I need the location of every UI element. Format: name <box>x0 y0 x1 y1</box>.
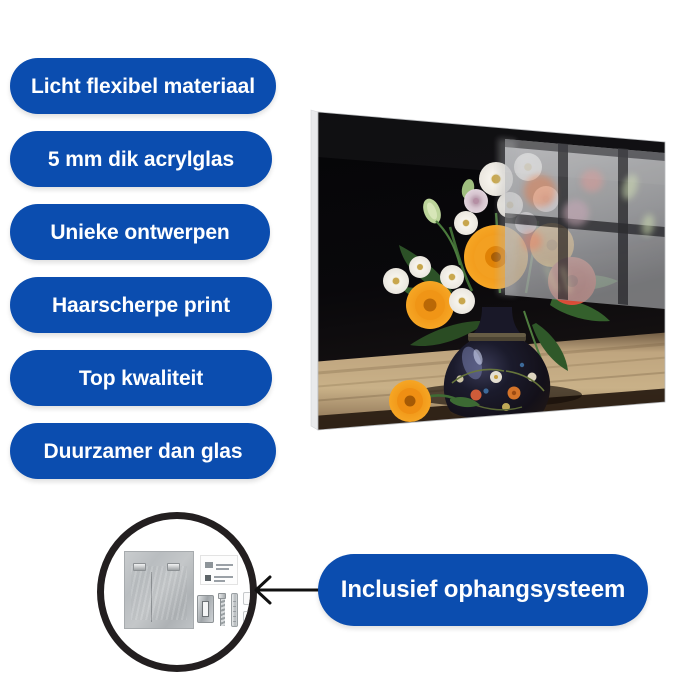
feature-pill-label: Duurzamer dan glas <box>44 441 243 462</box>
artwork-content <box>300 95 685 450</box>
feature-pill-haarscherpe-print[interactable]: Haarscherpe print <box>10 277 272 333</box>
acrylic-edge-thickness <box>311 110 318 430</box>
feature-pill-duurzamer-dan-glas[interactable]: Duurzamer dan glas <box>10 423 276 479</box>
acrylic-panel-preview <box>300 95 685 450</box>
feature-pill-label: 5 mm dik acrylglas <box>48 149 234 170</box>
feature-pill-5-mm-dik-acrylglas[interactable]: 5 mm dik acrylglas <box>10 131 272 187</box>
arrow-left-icon <box>248 572 328 608</box>
mounting-plate-slot-right <box>167 563 180 571</box>
mounting-kit-circle <box>97 512 257 672</box>
feature-pill-unieke-ontwerpen[interactable]: Unieke ontwerpen <box>10 204 270 260</box>
mounting-kit-contents <box>104 519 250 665</box>
feature-pill-top-kwaliteit[interactable]: Top kwaliteit <box>10 350 272 406</box>
feature-pill-label: Top kwaliteit <box>79 368 203 389</box>
mounting-callout-pill[interactable]: Inclusief ophangsysteem <box>318 554 648 626</box>
feature-pill-label: Haarscherpe print <box>52 295 230 316</box>
mounting-plate-slot-left <box>133 563 146 571</box>
artwork-panel-svg <box>300 95 685 450</box>
feature-pill-licht-flexibel-materiaal[interactable]: Licht flexibel materiaal <box>10 58 276 114</box>
mounting-callout-label: Inclusief ophangsysteem <box>341 578 625 602</box>
wall-plug <box>243 611 257 624</box>
screw <box>218 593 226 626</box>
mounting-plate-guideline <box>151 572 152 622</box>
feature-pill-label: Licht flexibel materiaal <box>31 76 255 97</box>
feature-pill-label: Unieke ontwerpen <box>50 222 229 243</box>
instruction-slip <box>200 555 238 585</box>
wall-bracket <box>197 595 214 623</box>
product-feature-graphic: Licht flexibel materiaal 5 mm dik acrylg… <box>0 0 700 700</box>
wall-dowel <box>231 593 238 627</box>
